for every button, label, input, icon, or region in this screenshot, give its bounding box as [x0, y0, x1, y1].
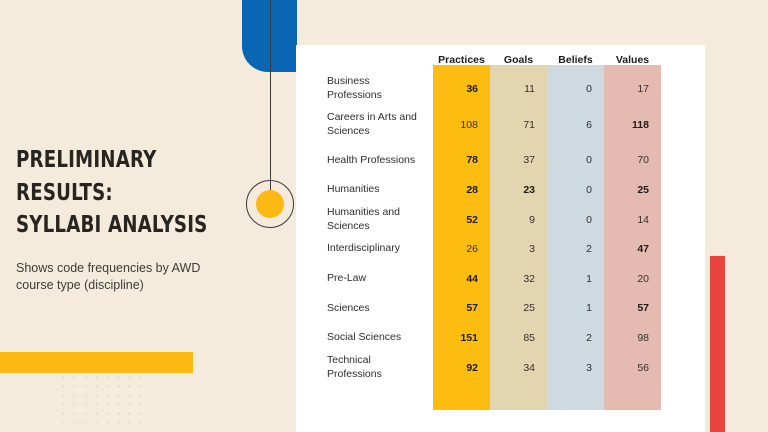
row-label: Humanities: [296, 175, 433, 205]
row-label: Technical Professions: [296, 353, 433, 383]
cell-beliefs: 1: [547, 264, 604, 294]
cell-values: 17: [604, 74, 661, 104]
cell-beliefs: 0: [547, 74, 604, 104]
table-row: Business Professions3611017: [296, 74, 661, 104]
table-row: Humanities2823025: [296, 175, 661, 205]
cell-beliefs: 3: [547, 353, 604, 383]
cell-beliefs: 2: [547, 323, 604, 353]
cell-values: 118: [604, 104, 661, 146]
table-row: Careers in Arts and Sciences108716118: [296, 104, 661, 146]
cell-practices: 52: [433, 205, 490, 235]
cell-goals: 37: [490, 146, 547, 176]
slide-canvas: Preliminary Results: Syllabi Analysis Sh…: [0, 0, 768, 432]
yellow-bar-decoration: [0, 352, 193, 373]
row-label: Social Sciences: [296, 323, 433, 353]
dot-grid-decoration: [58, 373, 144, 423]
header-cell-blank: [296, 45, 433, 74]
title-block: Preliminary Results: Syllabi Analysis Sh…: [16, 144, 256, 294]
cell-beliefs: 1: [547, 294, 604, 324]
cell-values: 14: [604, 205, 661, 235]
table-row: Social Sciences15185298: [296, 323, 661, 353]
cell-goals: 85: [490, 323, 547, 353]
frequency-table-wrapper: PracticesGoalsBeliefsValues Business Pro…: [296, 45, 705, 432]
cell-practices: 36: [433, 74, 490, 104]
cell-practices: 44: [433, 264, 490, 294]
cell-beliefs: 0: [547, 175, 604, 205]
table-row: Health Professions7837070: [296, 146, 661, 176]
table-body: Business Professions3611017Careers in Ar…: [296, 74, 661, 382]
cell-beliefs: 2: [547, 234, 604, 264]
cell-practices: 151: [433, 323, 490, 353]
row-label: Humanities and Sciences: [296, 205, 433, 235]
header-cell-goals: Goals: [490, 45, 547, 74]
page-subtitle: Shows code frequencies by AWD course typ…: [16, 260, 231, 295]
yellow-dot-decoration: [256, 190, 284, 218]
cell-practices: 92: [433, 353, 490, 383]
table-row: Sciences5725157: [296, 294, 661, 324]
row-label: Pre-Law: [296, 264, 433, 294]
table-header: PracticesGoalsBeliefsValues: [296, 45, 661, 74]
header-cell-values: Values: [604, 45, 661, 74]
cell-goals: 25: [490, 294, 547, 324]
cell-values: 56: [604, 353, 661, 383]
cell-beliefs: 0: [547, 205, 604, 235]
cell-practices: 108: [433, 104, 490, 146]
cell-practices: 28: [433, 175, 490, 205]
frequency-table: PracticesGoalsBeliefsValues Business Pro…: [296, 45, 661, 382]
cell-values: 57: [604, 294, 661, 324]
red-bar-decoration: [710, 256, 725, 432]
cell-goals: 3: [490, 234, 547, 264]
cell-values: 20: [604, 264, 661, 294]
cell-values: 25: [604, 175, 661, 205]
content-panel: PracticesGoalsBeliefsValues Business Pro…: [296, 45, 705, 432]
cell-values: 98: [604, 323, 661, 353]
row-label: Sciences: [296, 294, 433, 324]
vertical-line-decoration: [270, 0, 271, 205]
cell-beliefs: 6: [547, 104, 604, 146]
table-row: Humanities and Sciences529014: [296, 205, 661, 235]
page-title: Preliminary Results: Syllabi Analysis: [16, 144, 227, 242]
table-row: Technical Professions9234356: [296, 353, 661, 383]
cell-practices: 57: [433, 294, 490, 324]
cell-goals: 71: [490, 104, 547, 146]
table-row: Pre-Law4432120: [296, 264, 661, 294]
cell-practices: 26: [433, 234, 490, 264]
table-row: Interdisciplinary263247: [296, 234, 661, 264]
header-cell-beliefs: Beliefs: [547, 45, 604, 74]
row-label: Health Professions: [296, 146, 433, 176]
cell-goals: 34: [490, 353, 547, 383]
row-label: Interdisciplinary: [296, 234, 433, 264]
cell-practices: 78: [433, 146, 490, 176]
cell-goals: 9: [490, 205, 547, 235]
cell-values: 47: [604, 234, 661, 264]
cell-goals: 11: [490, 74, 547, 104]
cell-goals: 23: [490, 175, 547, 205]
header-row: PracticesGoalsBeliefsValues: [296, 45, 661, 74]
cell-beliefs: 0: [547, 146, 604, 176]
cell-values: 70: [604, 146, 661, 176]
row-label: Business Professions: [296, 74, 433, 104]
cell-goals: 32: [490, 264, 547, 294]
header-cell-practices: Practices: [433, 45, 490, 74]
row-label: Careers in Arts and Sciences: [296, 104, 433, 146]
